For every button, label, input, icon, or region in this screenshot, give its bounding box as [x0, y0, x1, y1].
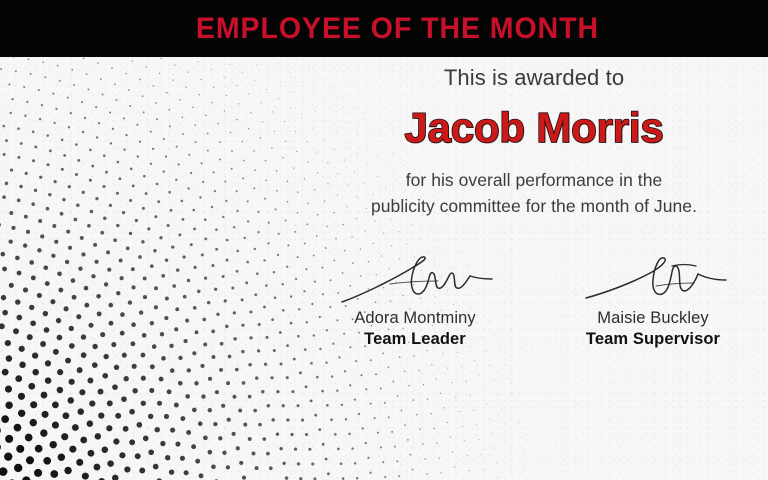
certificate-canvas: EMPLOYEE OF THE MONTH This is awarded to… [0, 0, 768, 480]
header-band: EMPLOYEE OF THE MONTH [0, 0, 768, 57]
signature-name-left: Adora Montminy [310, 308, 520, 329]
signature-title-left: Team Leader [310, 329, 520, 350]
certificate-title: EMPLOYEE OF THE MONTH [169, 14, 599, 44]
description-line-1: for his overall performance in the [300, 168, 768, 193]
certificate-body: This is awarded to Jacob Morris for his … [300, 57, 768, 480]
signature-mark-icon [548, 252, 758, 308]
signature-block-left: Adora Montminy Team Leader [310, 252, 520, 350]
signature-block-right: Maisie Buckley Team Supervisor [548, 252, 758, 350]
signature-mark-icon [310, 252, 520, 308]
awarded-to-label: This is awarded to [300, 65, 768, 91]
recipient-name: Jacob Morris [300, 106, 768, 150]
signature-row: Adora Montminy Team Leader Maisie Buckle… [300, 252, 768, 350]
signature-name-right: Maisie Buckley [548, 308, 758, 329]
signature-title-right: Team Supervisor [548, 329, 758, 350]
certificate-description: for his overall performance in the publi… [300, 168, 768, 219]
description-line-2: publicity committee for the month of Jun… [300, 194, 768, 219]
